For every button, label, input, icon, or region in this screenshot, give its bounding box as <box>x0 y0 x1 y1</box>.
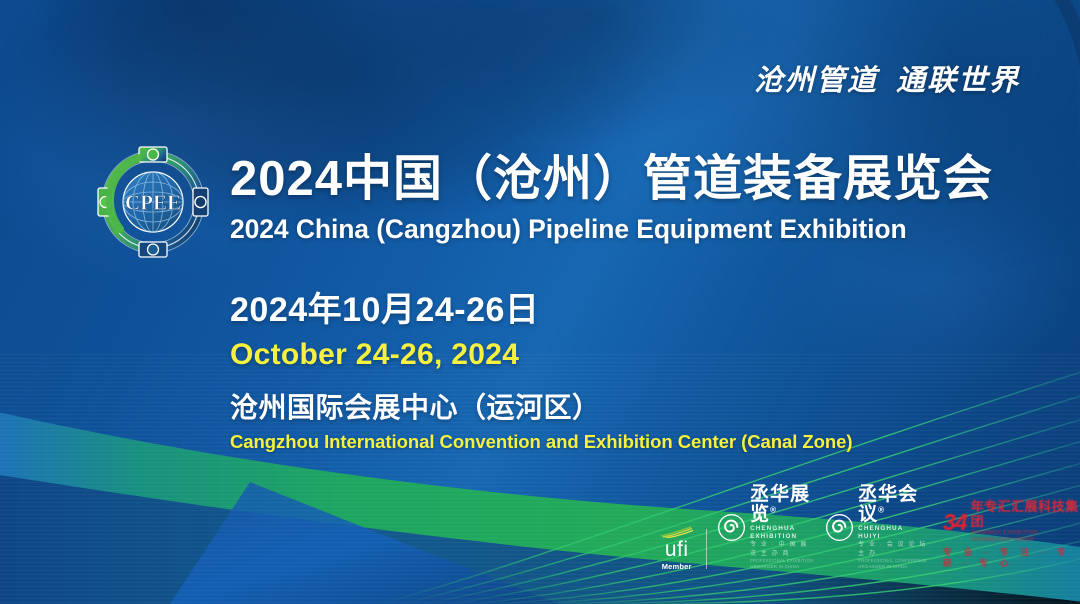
cpee-acronym-text: CPEE <box>125 191 181 215</box>
venue-english: Cangzhou International Convention and Ex… <box>230 431 1050 453</box>
title-english: 2024 China (Cangzhou) Pipeline Equipment… <box>230 214 1040 245</box>
partner-red-number: 34 <box>943 511 967 534</box>
cpee-logo: CPEE <box>94 143 212 261</box>
ufi-member-label: Member <box>662 562 692 571</box>
partner-red-en: ZHUANHUI EXHIBITION TECHNOLOGY GROUP <box>971 530 1080 544</box>
chenghua-conference-sub: 专 业 · 会 议 论 坛 主 办 <box>858 541 927 558</box>
chenghua-exhibition-logo: 丞华展览® CHENGHUA EXHIBITION 专 业 · 中 国 展 览 … <box>718 485 815 572</box>
chenghua-conference-en: CHENGHUA HUIYI <box>858 525 927 541</box>
chenghua-conference-cn: 丞华会议® <box>858 485 927 525</box>
chenghua-conference-sub2: PROFESSIONAL CONFERENCE ORGANIZER IN CHI… <box>858 558 927 570</box>
ufi-logo: ufi Member <box>658 526 695 572</box>
chenghua-exhibition-sub: 专 业 · 中 国 展 览 主 办 商 <box>750 541 815 558</box>
date-chinese: 2024年10月24-26日 <box>230 290 1050 331</box>
venue-chinese: 沧州国际会展中心（运河区） <box>230 386 1050 426</box>
chenghua-conference-logo: 丞华会议® CHENGHUA HUIYI 专 业 · 会 议 论 坛 主 办 P… <box>826 485 927 572</box>
exhibition-poster: 沧州管道通联世界 <box>0 0 1080 604</box>
partner-red-logo: 34 年专汇汇展科技集团 ZHUANHUI EXHIBITION TECHNOL… <box>943 500 1080 572</box>
title-block: 2024中国（沧州）管道装备展览会 2024 China (Cangzhou) … <box>230 152 1040 245</box>
chenghua-exhibition-cn: 丞华展览® <box>750 485 815 525</box>
chenghua-exhibition-sub2: PROFESSIONAL EXHIBITION ORGANIZER IN CHI… <box>750 558 815 570</box>
footer-logo-strip: ufi Member 丞华展览® CHENGHUA EXHIBITION 专 业… <box>658 520 1080 572</box>
ufi-swoosh-icon <box>660 526 694 538</box>
ufi-wordmark: ufi <box>665 539 689 560</box>
chenghua-conference-spiral-icon <box>826 514 853 541</box>
date-english: October 24-26, 2024 <box>230 338 1050 372</box>
partner-red-cn: 年专汇汇展科技集团 <box>971 500 1080 529</box>
tagline: 沧州管道通联世界 <box>754 57 1020 99</box>
chenghua-exhibition-en: CHENGHUA EXHIBITION <box>750 525 815 541</box>
title-chinese: 2024中国（沧州）管道装备展览会 <box>230 152 1040 208</box>
tagline-part-1: 沧州管道 <box>754 65 878 97</box>
event-info-block: 2024年10月24-26日 October 24-26, 2024 沧州国际会… <box>230 290 1050 453</box>
footer-divider-1 <box>706 529 707 569</box>
tagline-part-2: 通联世界 <box>896 65 1020 97</box>
chenghua-spiral-icon <box>718 514 745 541</box>
partner-red-row: 专 业 · 专 注 · 专 研 · 专 心 <box>943 547 1080 569</box>
